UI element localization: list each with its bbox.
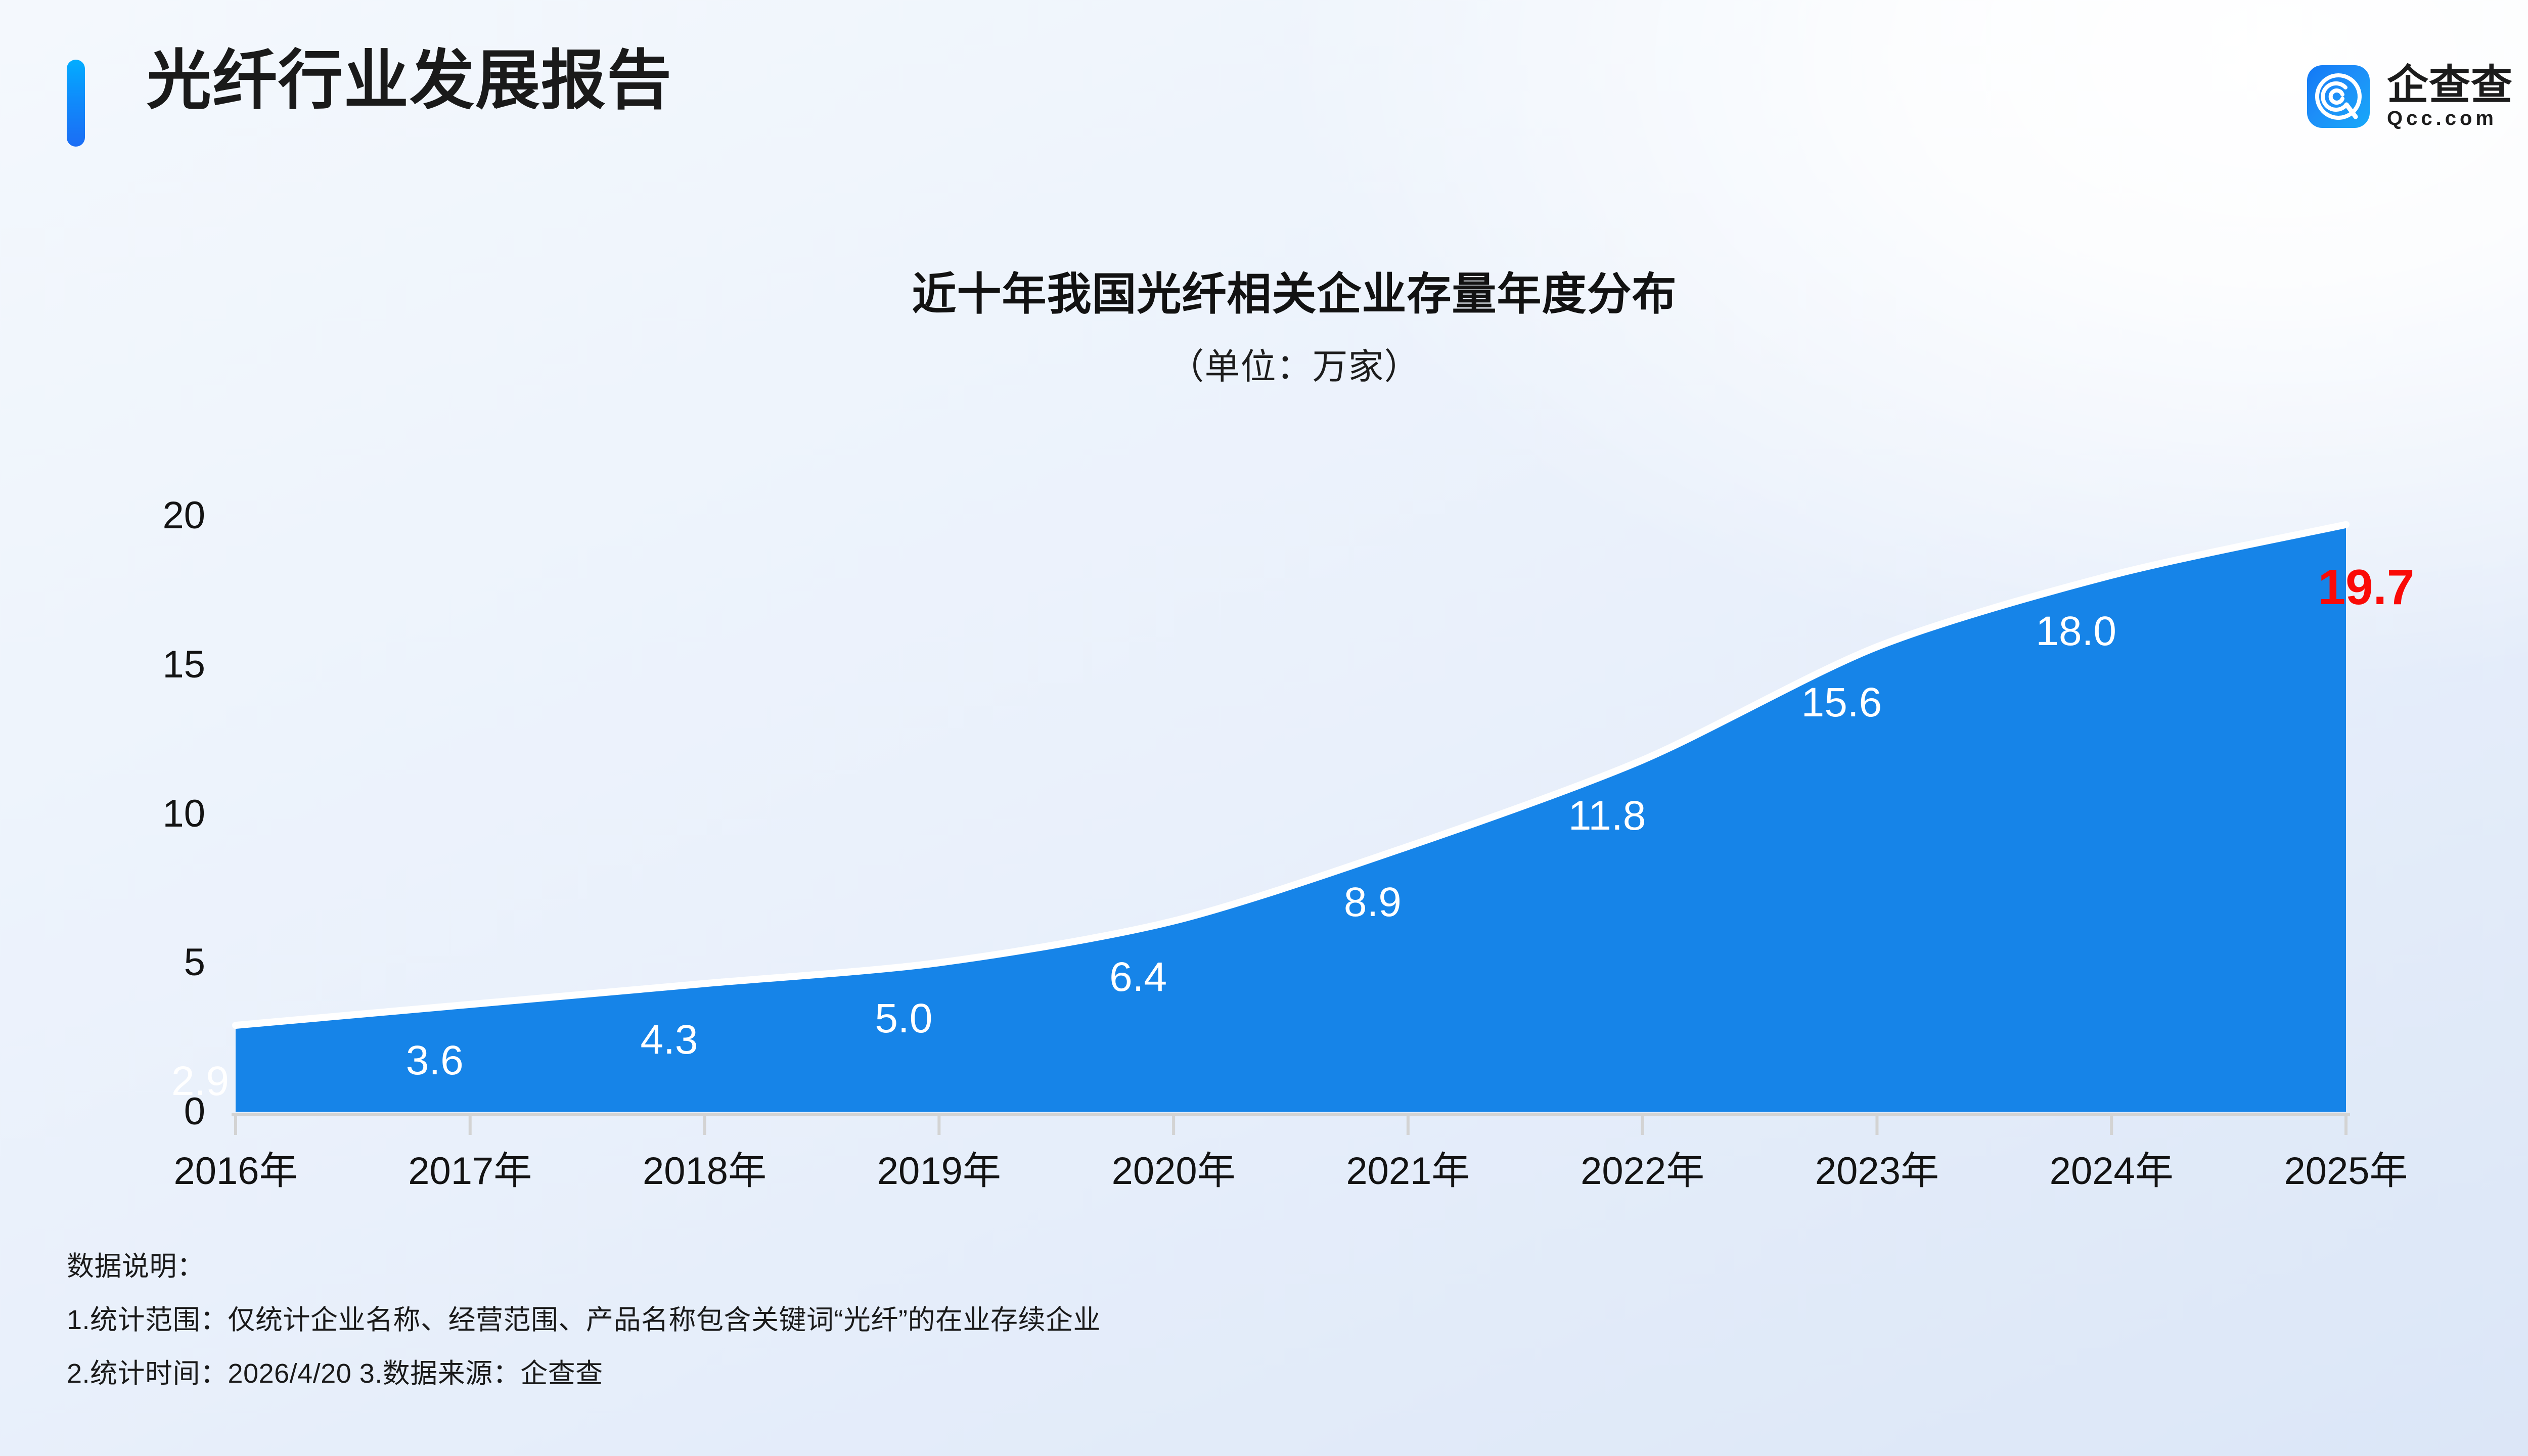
- report-page: 光纤行业发展报告 企查查 Qcc.com 近十年我国光纤相关企业存量年度分布 （…: [0, 0, 2528, 1456]
- x-axis: [232, 1115, 2350, 1135]
- qcc-logo-name-en: Qcc.com: [2387, 108, 2497, 128]
- qcc-logo-name-cn: 企查查: [2387, 65, 2513, 106]
- x-axis-tick-label: 2019年: [823, 1152, 1055, 1191]
- data-label: 4.3: [578, 1019, 760, 1061]
- y-axis-tick-label: 10: [74, 795, 205, 833]
- page-header: 光纤行业发展报告 企查查 Qcc.com: [0, 0, 2528, 202]
- x-axis-tick-label: 2017年: [354, 1152, 586, 1191]
- qcc-target-q-icon: [2307, 65, 2370, 128]
- data-label: 11.8: [1516, 795, 1698, 837]
- area-chart: [0, 0, 2528, 1456]
- y-axis-tick-label: 15: [74, 646, 205, 684]
- x-axis-tick-label: 2025年: [2230, 1152, 2462, 1191]
- data-label: 3.6: [344, 1040, 526, 1081]
- data-notes: 数据说明： 1.统计范围：仅统计企业名称、经营范围、产品名称包含关键词“光纤”的…: [67, 1253, 2291, 1387]
- qcc-logo: 企查查 Qcc.com: [2307, 65, 2513, 128]
- data-label: 8.9: [1282, 882, 1464, 923]
- area-top-line: [236, 525, 2346, 1025]
- x-axis-tick-label: 2020年: [1057, 1152, 1290, 1191]
- qcc-logo-text: 企查查 Qcc.com: [2387, 65, 2513, 128]
- data-label: 6.4: [1047, 957, 1229, 998]
- y-axis-tick-label: 5: [74, 943, 205, 982]
- data-label: 5.0: [812, 998, 995, 1039]
- x-axis-tick-label: 2023年: [1760, 1152, 1993, 1191]
- data-label: 15.6: [1750, 682, 1932, 723]
- title-accent-bar: [67, 60, 85, 147]
- x-axis-tick-label: 2021年: [1292, 1152, 1524, 1191]
- notes-heading: 数据说明：: [67, 1253, 2291, 1280]
- y-axis-tick-label: 20: [74, 496, 205, 535]
- x-axis-tick-label: 2016年: [119, 1152, 352, 1191]
- notes-line-1: 1.统计范围：仅统计企业名称、经营范围、产品名称包含关键词“光纤”的在业存续企业: [67, 1306, 2291, 1334]
- chart-subtitle: （单位：万家）: [0, 349, 2528, 384]
- x-axis-tick-label: 2022年: [1526, 1152, 1759, 1191]
- data-label: 2.9: [109, 1061, 291, 1102]
- x-axis-tick-label: 2018年: [589, 1152, 821, 1191]
- notes-line-2: 2.统计时间：2026/4/20 3.数据来源：企查查: [67, 1360, 2291, 1387]
- data-label: 18.0: [1985, 611, 2167, 652]
- page-title: 光纤行业发展报告: [147, 49, 672, 113]
- data-label-highlight: 19.7: [2275, 562, 2457, 612]
- x-axis-tick-label: 2024年: [1995, 1152, 2228, 1191]
- chart-title: 近十年我国光纤相关企业存量年度分布: [0, 272, 2528, 316]
